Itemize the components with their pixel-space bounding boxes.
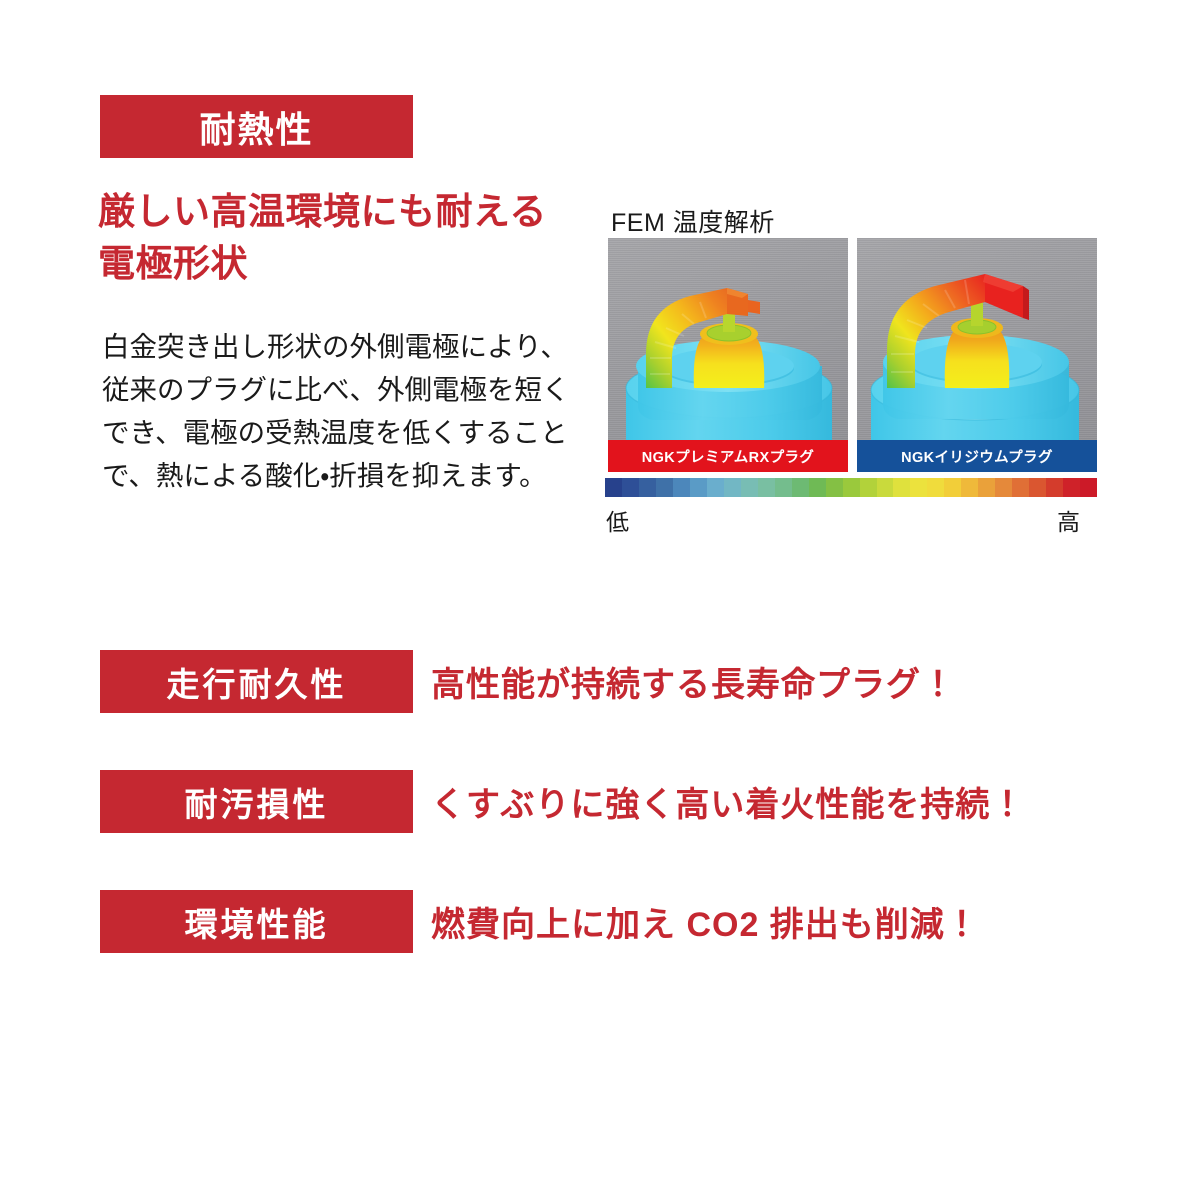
- fem-image-pair: NGKプレミアムRXプラグ: [608, 238, 1097, 472]
- feature-badge-durability: 走行耐久性: [100, 650, 413, 713]
- scale-segment-10: [775, 478, 792, 497]
- scale-segment-17: [893, 478, 910, 497]
- scale-segment-26: [1046, 478, 1063, 497]
- fem-card-iridium: NGKイリジウムプラグ: [857, 238, 1097, 472]
- body-line-3: でき、電極の受熱温度を低くすること: [102, 411, 580, 454]
- scale-label-high: 高: [1057, 503, 1080, 537]
- feature-text-durability: 高性能が持続する長寿命プラグ！: [431, 650, 956, 713]
- scale-segment-5: [690, 478, 707, 497]
- body-line-2: 従来のプラグに比べ、外側電極を短く: [102, 368, 580, 411]
- fem-card-premium-rx: NGKプレミアムRXプラグ: [608, 238, 848, 472]
- spark-plug-thermal-render-iridium: [857, 238, 1097, 472]
- body-line-1: 白金突き出し形状の外側電極により、: [102, 325, 580, 368]
- scale-segment-8: [741, 478, 758, 497]
- scale-segment-23: [995, 478, 1012, 497]
- fem-analysis-title: FEM 温度解析: [611, 203, 775, 239]
- headline-line-1: 厳しい高温環境にも耐える: [98, 186, 598, 238]
- scale-segment-2: [639, 478, 656, 497]
- scale-segment-6: [707, 478, 724, 497]
- spark-plug-thermal-render-premium-rx: [608, 238, 848, 472]
- feature-badge-fouling-resistance: 耐汚損性: [100, 770, 413, 833]
- fem-caption-premium-rx: NGKプレミアムRXプラグ: [608, 440, 848, 472]
- feature-row-fouling-resistance: 耐汚損性 くすぶりに強く高い着火性能を持続！: [0, 770, 1200, 833]
- body-line-4: で、熱による酸化・折損を抑えます。: [102, 454, 580, 497]
- section-body-copy: 白金突き出し形状の外側電極により、 従来のプラグに比べ、外側電極を短く でき、電…: [102, 325, 580, 497]
- scale-segment-20: [944, 478, 961, 497]
- scale-segment-11: [792, 478, 809, 497]
- feature-text-fouling-resistance: くすぶりに強く高い着火性能を持続！: [431, 770, 1025, 833]
- temperature-color-scale: [605, 478, 1097, 497]
- scale-segment-19: [927, 478, 944, 497]
- scale-segment-3: [656, 478, 673, 497]
- headline-line-2: 電極形状: [98, 238, 598, 290]
- scale-label-low: 低: [606, 503, 629, 537]
- feature-text-environmental: 燃費向上に加え CO2 排出も削減！: [431, 890, 980, 953]
- scale-segment-16: [877, 478, 894, 497]
- scale-segment-21: [961, 478, 978, 497]
- scale-segment-27: [1063, 478, 1080, 497]
- scale-segment-22: [978, 478, 995, 497]
- scale-segment-4: [673, 478, 690, 497]
- section-headline: 厳しい高温環境にも耐える 電極形状: [98, 186, 598, 290]
- feature-row-durability: 走行耐久性 高性能が持続する長寿命プラグ！: [0, 650, 1200, 713]
- scale-segment-9: [758, 478, 775, 497]
- scale-segment-7: [724, 478, 741, 497]
- scale-segment-18: [910, 478, 927, 497]
- feature-row-environmental: 環境性能 燃費向上に加え CO2 排出も削減！: [0, 890, 1200, 953]
- scale-segment-1: [622, 478, 639, 497]
- scale-segment-12: [809, 478, 826, 497]
- scale-segment-13: [826, 478, 843, 497]
- section-badge-heat-resistance: 耐熱性: [100, 95, 413, 158]
- feature-badge-environmental: 環境性能: [100, 890, 413, 953]
- scale-segment-0: [605, 478, 622, 497]
- scale-segment-24: [1012, 478, 1029, 497]
- scale-segment-25: [1029, 478, 1046, 497]
- scale-segment-14: [843, 478, 860, 497]
- scale-segment-15: [860, 478, 877, 497]
- scale-segment-28: [1080, 478, 1097, 497]
- fem-caption-iridium: NGKイリジウムプラグ: [857, 440, 1097, 472]
